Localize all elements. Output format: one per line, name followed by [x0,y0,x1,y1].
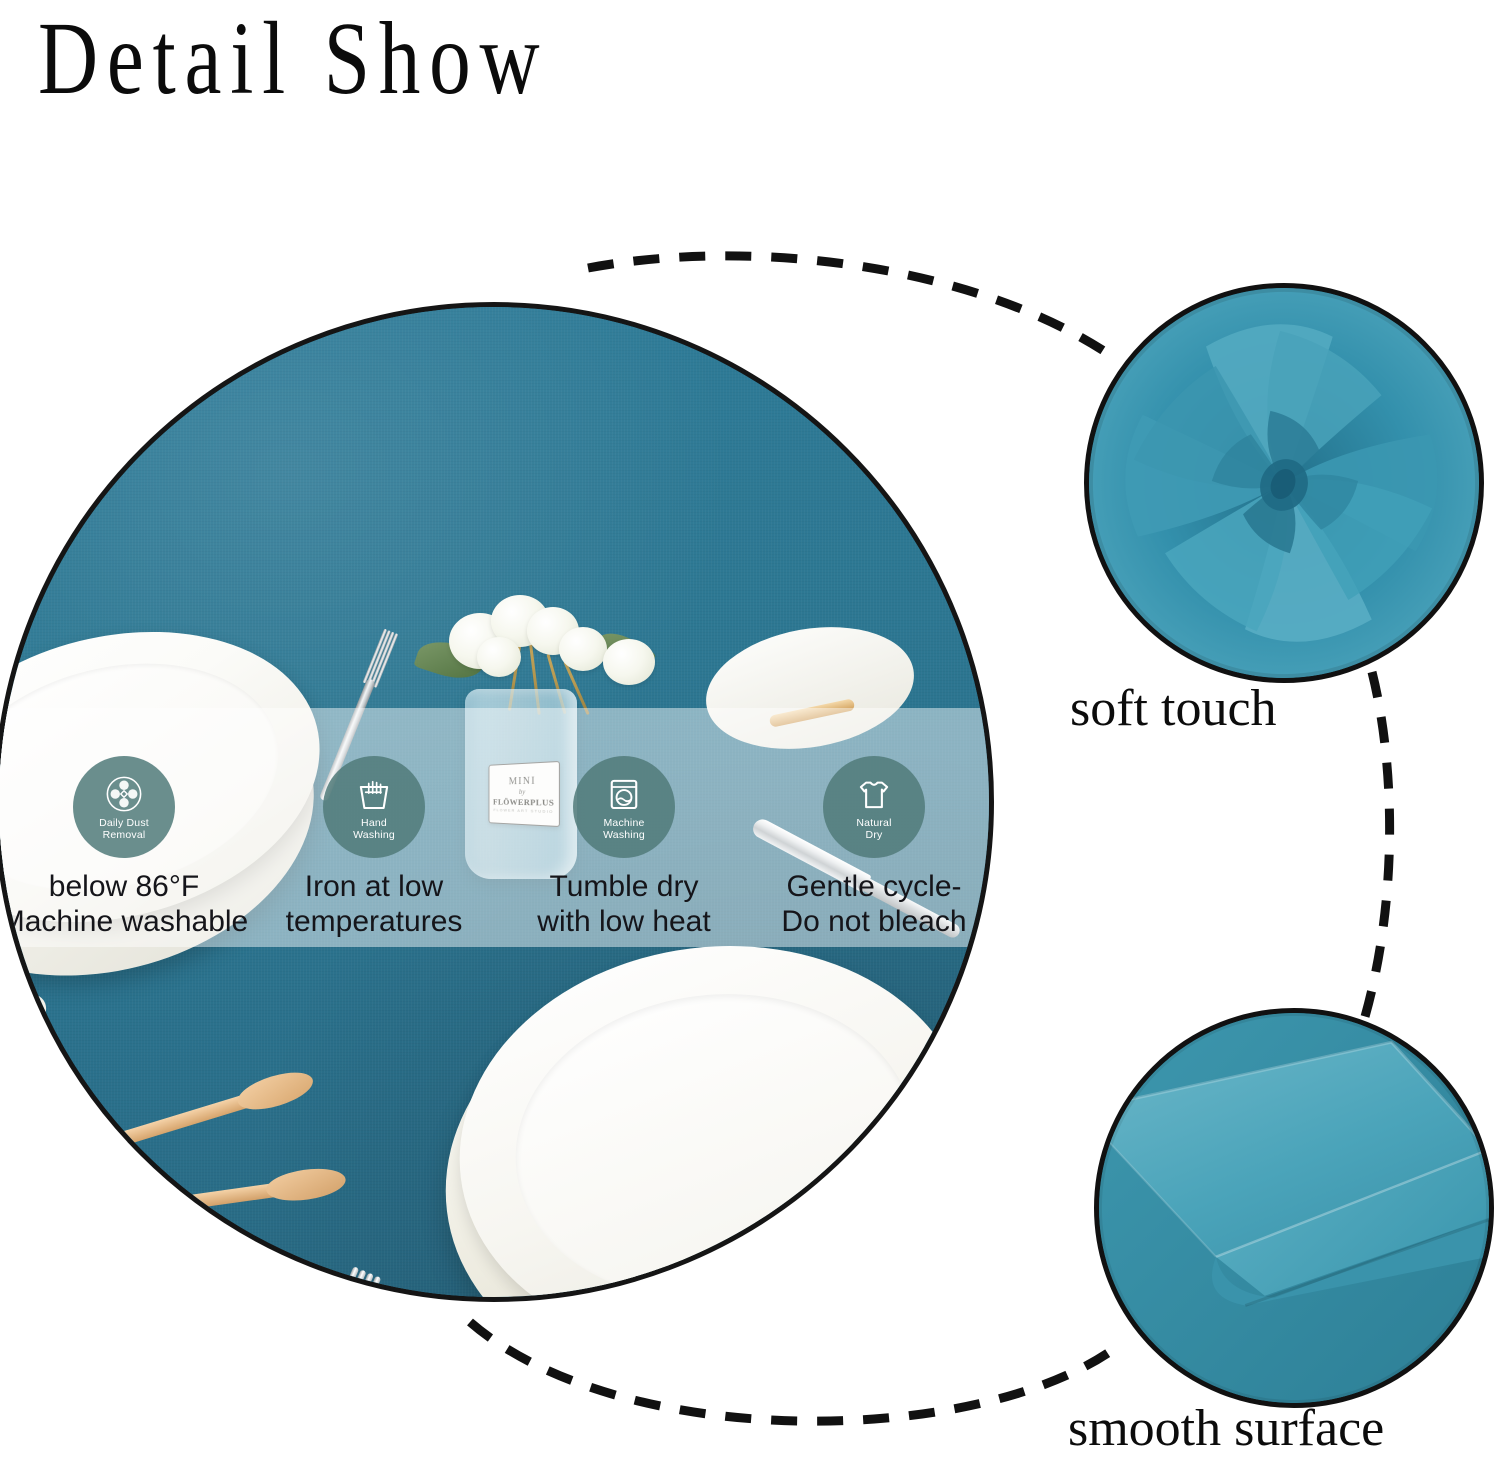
badge-label-line2: Dry [866,829,883,841]
caption-line1: Iron at low [249,869,499,904]
hand-washing-icon [353,773,395,815]
badge-label-line2: Removal [103,829,146,841]
care-badge-cell-3: Natural Dry [749,756,994,866]
daily-dust-removal-icon [103,773,145,815]
caption-line2: temperatures [249,904,499,939]
care-badge-cell-1: Hand Washing [249,756,499,866]
badge-label-line2: Washing [603,829,645,841]
care-caption-2: Tumble dry with low heat [499,869,749,939]
main-product-photo: MINI by FLÖWERPLUS FLOWER ART STUDIO [0,302,994,1302]
swirled-fabric-rosette-graphic [1089,288,1479,678]
caption-line2: Do not bleach [749,904,994,939]
badge-label-line1: Hand [361,817,387,829]
care-badge-row: Daily Dust Removal Hand [0,756,994,866]
care-badge-machine-washing: Machine Washing [573,756,675,858]
label-smooth-surface: smooth surface [1068,1399,1384,1458]
detail-photo-soft-touch [1084,283,1484,683]
badge-label-line1: Machine [603,817,644,829]
folded-fabric-corner-graphic [1099,1013,1489,1403]
care-badge-daily-dust-removal: Daily Dust Removal [73,756,175,858]
caption-line1: below 86°F [0,869,249,904]
machine-washing-icon [603,773,645,815]
badge-label-line2: Washing [353,829,395,841]
care-badge-natural-dry: Natural Dry [823,756,925,858]
product-detail-page: Detail Show [0,0,1500,1461]
caption-line1: Gentle cycle- [749,869,994,904]
label-soft-touch: soft touch [1070,679,1277,738]
caption-line2: Machine washable [0,904,249,939]
natural-dry-icon [853,773,895,815]
care-caption-1: Iron at low temperatures [249,869,499,939]
badge-label-line1: Natural [856,817,891,829]
caption-line2: with low heat [499,904,749,939]
care-caption-row: below 86°F Machine washable Iron at low … [0,869,994,939]
badge-label-line1: Daily Dust [99,817,149,829]
care-badge-cell-2: Machine Washing [499,756,749,866]
care-badge-cell-0: Daily Dust Removal [0,756,249,866]
care-caption-0: below 86°F Machine washable [0,869,249,939]
detail-photo-smooth-surface [1094,1008,1494,1408]
care-caption-3: Gentle cycle- Do not bleach [749,869,994,939]
caption-line1: Tumble dry [499,869,749,904]
page-title: Detail Show [38,6,548,112]
care-badge-hand-washing: Hand Washing [323,756,425,858]
connector-bottom-arc [470,1322,1118,1421]
